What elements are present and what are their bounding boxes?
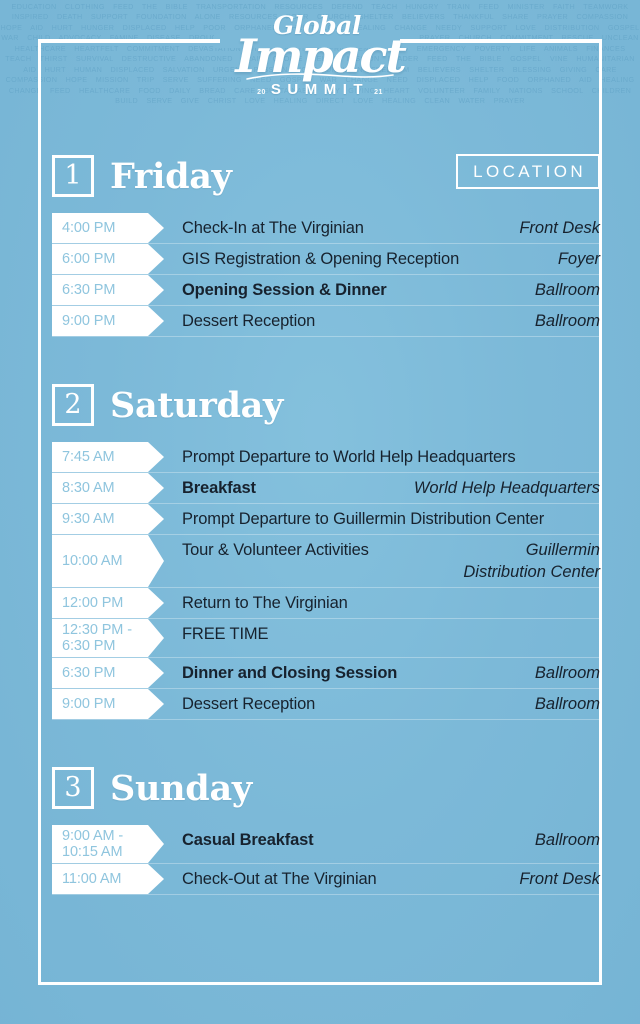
schedule-time-text: 11:00 AM [62,871,148,887]
day-name-heading: Friday [110,159,232,194]
schedule-time-pennant: 9:00 AM -10:15 AM [52,825,148,863]
schedule-activity-title: Dessert Reception [182,692,315,715]
day-section-saturday: 2Saturday7:45 AMPrompt Departure to Worl… [52,379,600,720]
schedule-row: 4:00 PMCheck-In at The VirginianFront De… [52,213,600,244]
schedule-row: 12:00 PMReturn to The Virginian [52,588,600,619]
schedule-activity-title: Prompt Departure to World Help Headquart… [182,445,515,468]
schedule-time-pennant: 10:00 AM [52,535,148,587]
schedule-location-text: Ballroom [535,692,600,715]
schedule-location-text: Foyer [558,247,600,270]
schedule-location-text: Guillermin Distribution Center [463,538,600,583]
schedule-row-list: 9:00 AM -10:15 AMCasual BreakfastBallroo… [52,825,600,895]
schedule-time-text: 6:30 PM [62,665,148,681]
schedule-row-body: Tour & Volunteer ActivitiesGuillermin Di… [148,535,600,587]
schedule-row: 12:30 PM -6:30 PMFREE TIME [52,619,600,658]
schedule-time-pennant: 8:30 AM [52,473,148,503]
schedule-time-pennant: 6:00 PM [52,244,148,274]
schedule-row-body: GIS Registration & Opening ReceptionFoye… [148,244,600,274]
schedule-row-body: Opening Session & DinnerBallroom [148,275,600,305]
day-name-heading: Saturday [110,388,283,423]
schedule-activity-title: Casual Breakfast [182,828,314,851]
schedule-location-text: Front Desk [519,216,600,239]
schedule-time-text: 12:00 PM [62,595,148,611]
schedule-row-list: 7:45 AMPrompt Departure to World Help He… [52,442,600,720]
schedule-row: 8:30 AMBreakfastWorld Help Headquarters [52,473,600,504]
schedule-time-text: 9:00 PM [62,696,148,712]
day-header: 1FridayLOCATION [52,150,600,202]
day-number-badge: 3 [52,767,94,809]
schedule-time-pennant: 12:30 PM -6:30 PM [52,619,148,657]
schedule-time-pennant: 9:30 AM [52,504,148,534]
schedule-time-text: 10:15 AM [62,844,148,860]
schedule-time-text: 6:00 PM [62,251,148,267]
schedule-activity-title: Dessert Reception [182,309,315,332]
schedule-time-pennant: 4:00 PM [52,213,148,243]
schedule-activity-title: Prompt Departure to Guillermin Distribut… [182,507,544,530]
schedule-row: 11:00 AMCheck-Out at The VirginianFront … [52,864,600,895]
day-header: 2Saturday [52,379,600,431]
schedule-row-body: Casual BreakfastBallroom [148,825,600,863]
schedule-location-text: Ballroom [535,828,600,851]
event-schedule-poster: EDUCATION CLOTHING FEED THE BIBLE TRANSP… [0,0,640,1024]
schedule-time-text: 4:00 PM [62,220,148,236]
schedule-row-body: BreakfastWorld Help Headquarters [148,473,600,503]
schedule-location-text: Ballroom [535,278,600,301]
schedule-time-text: 9:30 AM [62,511,148,527]
schedule-time-pennant: 12:00 PM [52,588,148,618]
schedule-time-pennant: 6:30 PM [52,658,148,688]
schedule-row-body: Dessert ReceptionBallroom [148,306,600,336]
location-column-header: LOCATION [456,154,600,189]
schedule-activity-title: Check-In at The Virginian [182,216,364,239]
schedule-row: 9:00 PMDessert ReceptionBallroom [52,306,600,337]
schedule-row: 6:00 PMGIS Registration & Opening Recept… [52,244,600,275]
schedule-activity-title: Dinner and Closing Session [182,661,397,684]
schedule-activity-title: FREE TIME [182,622,268,645]
day-name-heading: Sunday [110,771,252,806]
day-section-friday: 1FridayLOCATION4:00 PMCheck-In at The Vi… [52,150,600,337]
frame-top-gap-mask [214,34,410,48]
schedule-activity-title: Breakfast [182,476,256,499]
schedule-row: 6:30 PMOpening Session & DinnerBallroom [52,275,600,306]
schedule-time-text: 6:30 PM [62,282,148,298]
schedule-row-list: 4:00 PMCheck-In at The VirginianFront De… [52,213,600,337]
schedule-row-body: Dessert ReceptionBallroom [148,689,600,719]
day-section-spacer [52,720,600,762]
day-section-sunday: 3Sunday9:00 AM -10:15 AMCasual Breakfast… [52,762,600,895]
schedule-activity-title: Tour & Volunteer Activities [182,538,369,561]
schedule-time-pennant: 11:00 AM [52,864,148,894]
schedule-row: 7:45 AMPrompt Departure to World Help He… [52,442,600,473]
schedule-row-body: Prompt Departure to Guillermin Distribut… [148,504,600,534]
schedule-time-text: 8:30 AM [62,480,148,496]
schedule-row: 9:30 AMPrompt Departure to Guillermin Di… [52,504,600,535]
schedule-time-pennant: 9:00 PM [52,689,148,719]
schedule-row-body: Dinner and Closing SessionBallroom [148,658,600,688]
schedule-location-text: Ballroom [535,661,600,684]
schedule-row: 9:00 AM -10:15 AMCasual BreakfastBallroo… [52,825,600,864]
schedule-row-body: Prompt Departure to World Help Headquart… [148,442,600,472]
schedule-time-text: 9:00 PM [62,313,148,329]
schedule-activity-title: GIS Registration & Opening Reception [182,247,459,270]
schedule-activity-title: Check-Out at The Virginian [182,867,377,890]
schedule-time-text: 7:45 AM [62,449,148,465]
schedule-time-text: 6:30 PM [62,638,148,654]
day-number-badge: 1 [52,155,94,197]
schedule-time-pennant: 7:45 AM [52,442,148,472]
schedule-row: 10:00 AMTour & Volunteer ActivitiesGuill… [52,535,600,588]
day-section-spacer [52,337,600,379]
schedule-activity-title: Opening Session & Dinner [182,278,387,301]
schedule-content: 1FridayLOCATION4:00 PMCheck-In at The Vi… [52,150,600,895]
schedule-time-pennant: 6:30 PM [52,275,148,305]
schedule-row-body: Check-Out at The VirginianFront Desk [148,864,600,894]
schedule-row: 9:00 PMDessert ReceptionBallroom [52,689,600,720]
schedule-row-body: FREE TIME [148,619,600,657]
schedule-row: 6:30 PMDinner and Closing SessionBallroo… [52,658,600,689]
frame-rule-left [38,39,220,43]
schedule-time-text: 9:00 AM - [62,828,148,844]
schedule-activity-title: Return to The Virginian [182,591,348,614]
schedule-location-text: Front Desk [519,867,600,890]
schedule-location-text: World Help Headquarters [414,476,600,499]
schedule-row-body: Return to The Virginian [148,588,600,618]
schedule-row-body: Check-In at The VirginianFront Desk [148,213,600,243]
schedule-time-pennant: 9:00 PM [52,306,148,336]
schedule-time-text: 12:30 PM - [62,622,148,638]
frame-rule-right [400,39,602,43]
day-header: 3Sunday [52,762,600,814]
schedule-location-text: Ballroom [535,309,600,332]
schedule-time-text: 10:00 AM [62,553,148,569]
day-number-badge: 2 [52,384,94,426]
